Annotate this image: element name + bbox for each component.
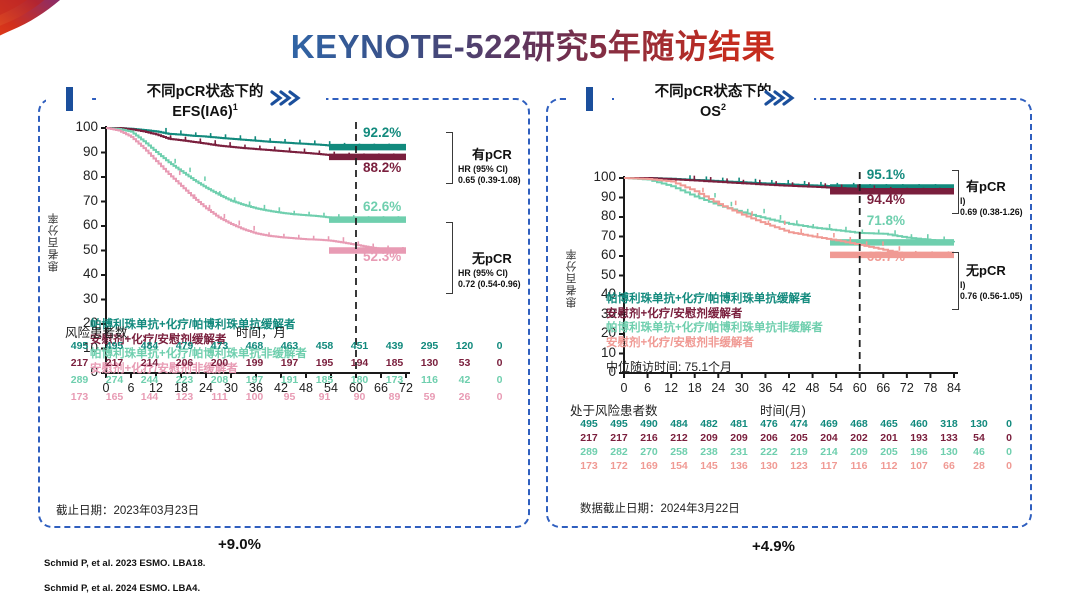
risk-count: 206 [754, 432, 784, 444]
slide-root: KEYNOTE-522研究5年随访结果 不同pCR状态下的 EFS(IA6)1 … [0, 0, 1066, 604]
risk-count: 0 [482, 340, 517, 352]
risk-count: 130 [412, 357, 447, 369]
risk-count: 197 [272, 357, 307, 369]
efs-risk-header: 风险患者数 [65, 322, 128, 341]
survival-rate-label: 62.6% [363, 199, 401, 214]
risk-count: 107 [904, 460, 934, 472]
risk-count: 191 [272, 374, 307, 386]
risk-count: 482 [694, 418, 724, 430]
risk-count: 439 [377, 340, 412, 352]
risk-count: 0 [994, 446, 1024, 458]
risk-count: 133 [934, 432, 964, 444]
risk-count: 258 [664, 446, 694, 458]
risk-count: 100 [237, 391, 272, 403]
risk-count: 26 [447, 391, 482, 403]
efs-plot: 患者百分率 0102030405060708090100 06121824303… [40, 100, 532, 400]
survival-rate-label: 71.8% [867, 213, 905, 228]
risk-count: 205 [784, 432, 814, 444]
os-x-axis-label: 时间(月) [760, 400, 806, 419]
risk-count: 289 [574, 446, 604, 458]
risk-count: 154 [664, 460, 694, 472]
risk-count: 495 [62, 340, 97, 352]
risk-count: 196 [904, 446, 934, 458]
risk-count: 204 [814, 432, 844, 444]
risk-count: 295 [412, 340, 447, 352]
legend-item: 帕博利珠单抗+化疗/帕博利珠单抗非缓解者 [606, 321, 823, 336]
os-delta: +4.9% [752, 538, 795, 555]
risk-count: 197 [237, 374, 272, 386]
risk-count: 231 [724, 446, 754, 458]
risk-count: 54 [964, 432, 994, 444]
group-label: 无pCR [472, 248, 512, 267]
risk-count: 185 [377, 357, 412, 369]
risk-count: 28 [964, 460, 994, 472]
brace [446, 132, 453, 184]
risk-count: 123 [784, 460, 814, 472]
risk-count: 194 [342, 357, 377, 369]
brace [952, 170, 959, 214]
efs-cutoff-date: 截止日期：2023年03月23日 [56, 502, 199, 518]
survival-rate-label: 52.3% [363, 249, 401, 264]
risk-count: 112 [874, 460, 904, 472]
risk-table-row: 1731721691541451361301231171161121076628… [574, 460, 1024, 472]
risk-table-row: 2172172162122092092062052042022011931335… [574, 432, 1024, 444]
legend-item: 安慰剂+化疗/安慰剂非缓解者 [606, 336, 823, 351]
risk-count: 145 [694, 460, 724, 472]
survival-rate-label: 92.2% [363, 125, 401, 140]
risk-count: 468 [844, 418, 874, 430]
risk-count: 217 [604, 432, 634, 444]
risk-count: 219 [784, 446, 814, 458]
risk-count: 209 [844, 446, 874, 458]
brace [446, 222, 453, 294]
risk-count: 53 [447, 357, 482, 369]
risk-count: 458 [307, 340, 342, 352]
survival-rate-label: 65.7% [867, 249, 905, 264]
risk-count: 214 [132, 357, 167, 369]
legend-item: 安慰剂+化疗/安慰剂缓解者 [606, 307, 823, 322]
risk-count: 0 [482, 357, 517, 369]
risk-count: 42 [447, 374, 482, 386]
panel-os-title-line1: 不同pCR状态下的 [655, 84, 772, 100]
hazard-ratio: I)0.69 (0.38-1.26) [960, 196, 1023, 218]
risk-count: 199 [237, 357, 272, 369]
risk-count: 111 [202, 391, 237, 403]
hr-title: I) [960, 196, 965, 206]
risk-count: 217 [97, 357, 132, 369]
survival-rate-label: 94.4% [867, 192, 905, 207]
legend-item: 帕博利珠单抗+化疗/帕博利珠单抗缓解者 [606, 292, 823, 307]
risk-count: 212 [664, 432, 694, 444]
risk-count: 481 [724, 418, 754, 430]
risk-count: 193 [904, 432, 934, 444]
os-median-followup: 中位随访时间: 75.1个月 [606, 358, 732, 375]
hr-title: HR (95% CI) [458, 268, 508, 278]
efs-delta: +9.0% [218, 536, 261, 553]
risk-count: 95 [272, 391, 307, 403]
risk-count: 180 [342, 374, 377, 386]
reference-1: Schmid P, et al. 2023 ESMO. LBA18. [44, 558, 205, 569]
risk-count: 214 [814, 446, 844, 458]
risk-count: 223 [167, 374, 202, 386]
risk-count: 473 [202, 340, 237, 352]
risk-count: 495 [574, 418, 604, 430]
risk-count: 222 [754, 446, 784, 458]
risk-count: 208 [202, 374, 237, 386]
risk-count: 451 [342, 340, 377, 352]
risk-table-row: 4954954844794734684634584514392951200 [62, 340, 517, 352]
risk-count: 476 [754, 418, 784, 430]
risk-count: 484 [664, 418, 694, 430]
survival-rate-label: 95.1% [867, 167, 905, 182]
risk-count: 120 [447, 340, 482, 352]
survival-rate-label: 88.2% [363, 160, 401, 175]
os-plot: 患者百分率 0102030405060708090100 06121824303… [548, 100, 1034, 410]
risk-table-row: 2892822702582382312222192142092051961304… [574, 446, 1024, 458]
risk-count: 0 [994, 432, 1024, 444]
hr-value: 0.65 (0.39-1.08) [458, 175, 521, 185]
risk-count: 46 [964, 446, 994, 458]
risk-count: 282 [604, 446, 634, 458]
hr-value: 0.72 (0.54-0.96) [458, 279, 521, 289]
risk-count: 66 [934, 460, 964, 472]
risk-count: 116 [412, 374, 447, 386]
risk-table-row: 1731651441231111009591908959260 [62, 391, 517, 403]
risk-count: 318 [934, 418, 964, 430]
risk-count: 495 [97, 340, 132, 352]
risk-count: 169 [634, 460, 664, 472]
group-label: 有pCR [472, 144, 512, 163]
risk-count: 172 [604, 460, 634, 472]
risk-count: 201 [874, 432, 904, 444]
risk-count: 289 [62, 374, 97, 386]
risk-count: 495 [604, 418, 634, 430]
risk-count: 136 [724, 460, 754, 472]
risk-count: 0 [482, 374, 517, 386]
panel-os: 不同pCR状态下的 OS2 患者百分率 01020304050607080901… [546, 98, 1032, 528]
risk-count: 209 [724, 432, 754, 444]
risk-count: 217 [574, 432, 604, 444]
risk-count: 202 [844, 432, 874, 444]
risk-count: 130 [754, 460, 784, 472]
risk-count: 59 [412, 391, 447, 403]
risk-count: 465 [874, 418, 904, 430]
brace [952, 252, 959, 310]
risk-count: 468 [237, 340, 272, 352]
risk-count: 216 [634, 432, 664, 444]
risk-count: 0 [482, 391, 517, 403]
panel-efs: 不同pCR状态下的 EFS(IA6)1 患者百分率 01020304050607… [38, 98, 530, 528]
risk-count: 479 [167, 340, 202, 352]
os-cutoff-date: 数据截止日期：2024年3月22日 [580, 500, 740, 516]
risk-count: 185 [307, 374, 342, 386]
risk-count: 463 [272, 340, 307, 352]
risk-count: 90 [342, 391, 377, 403]
hazard-ratio: HR (95% CI)0.72 (0.54-0.96) [458, 268, 521, 290]
risk-count: 474 [784, 418, 814, 430]
risk-count: 209 [694, 432, 724, 444]
risk-count: 205 [874, 446, 904, 458]
risk-table-row: 289274244223208197191185180173116420 [62, 374, 517, 386]
risk-count: 0 [994, 460, 1024, 472]
os-legend: 帕博利珠单抗+化疗/帕博利珠单抗缓解者安慰剂+化疗/安慰剂缓解者帕博利珠单抗+化… [606, 292, 823, 351]
os-risk-header: 处于风险患者数 [570, 400, 658, 419]
hr-title: I) [960, 280, 965, 290]
risk-count: 91 [307, 391, 342, 403]
page-title: KEYNOTE-522研究5年随访结果 [0, 20, 1066, 68]
risk-count: 116 [844, 460, 874, 472]
risk-count: 200 [202, 357, 237, 369]
risk-count: 0 [994, 418, 1024, 430]
risk-count: 130 [964, 418, 994, 430]
risk-count: 165 [97, 391, 132, 403]
hr-value: 0.76 (0.56-1.05) [960, 291, 1023, 301]
risk-count: 173 [574, 460, 604, 472]
panel-efs-title-line1: 不同pCR状态下的 [147, 84, 264, 100]
reference-2: Schmid P, et al. 2024 ESMO. LBA4. [44, 583, 200, 594]
risk-count: 274 [97, 374, 132, 386]
risk-count: 460 [904, 418, 934, 430]
risk-count: 130 [934, 446, 964, 458]
hr-value: 0.69 (0.38-1.26) [960, 207, 1023, 217]
risk-count: 484 [132, 340, 167, 352]
risk-count: 238 [694, 446, 724, 458]
hr-title: HR (95% CI) [458, 164, 508, 174]
risk-count: 217 [62, 357, 97, 369]
group-label: 有pCR [966, 176, 1006, 195]
risk-count: 490 [634, 418, 664, 430]
risk-count: 195 [307, 357, 342, 369]
risk-count: 144 [132, 391, 167, 403]
risk-table-row: 4954954904844824814764744694684654603181… [574, 418, 1024, 430]
risk-count: 206 [167, 357, 202, 369]
risk-count: 123 [167, 391, 202, 403]
risk-count: 89 [377, 391, 412, 403]
risk-count: 173 [62, 391, 97, 403]
efs-x-axis-label: 时间，月 [236, 322, 286, 341]
risk-count: 117 [814, 460, 844, 472]
risk-count: 270 [634, 446, 664, 458]
hazard-ratio: HR (95% CI)0.65 (0.39-1.08) [458, 164, 521, 186]
group-label: 无pCR [966, 260, 1006, 279]
risk-count: 173 [377, 374, 412, 386]
risk-table-row: 217217214206200199197195194185130530 [62, 357, 517, 369]
risk-count: 469 [814, 418, 844, 430]
risk-count: 244 [132, 374, 167, 386]
hazard-ratio: I)0.76 (0.56-1.05) [960, 280, 1023, 302]
